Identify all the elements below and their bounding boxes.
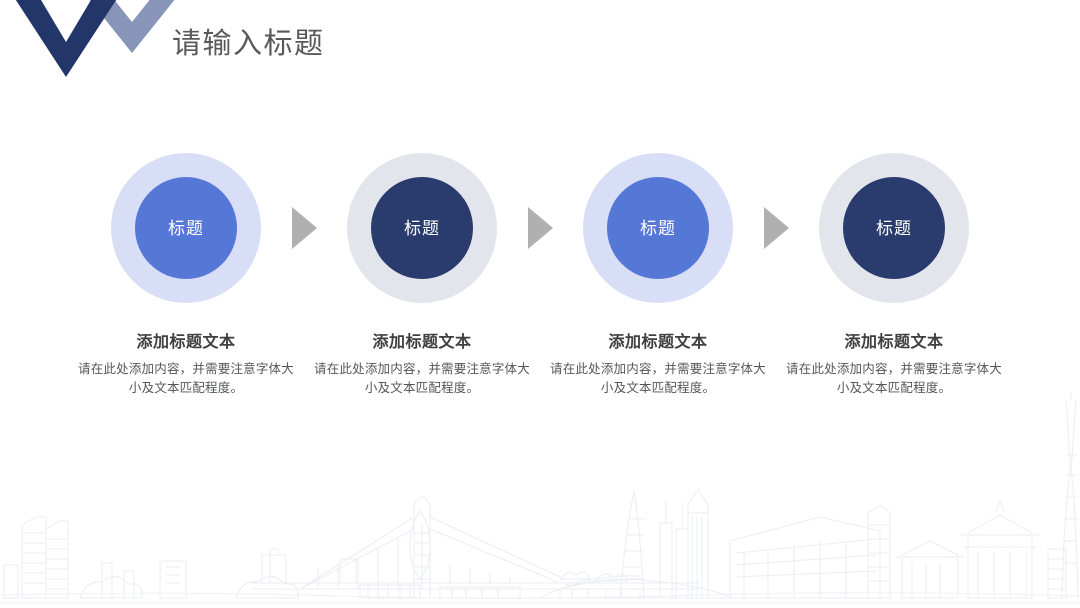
process-step-1-badge: 标题 (168, 220, 204, 237)
process-step-3-badge: 标题 (640, 220, 676, 237)
process-caption-4-body: 请在此处添加内容，并需要注意字体大小及文本匹配程度。 (776, 360, 1012, 398)
process-step-2-disc: 标题 (371, 177, 473, 279)
city-skyline-watermark (0, 393, 1080, 608)
process-caption-2-body: 请在此处添加内容，并需要注意字体大小及文本匹配程度。 (304, 360, 540, 398)
process-caption-1: 添加标题文本 请在此处添加内容，并需要注意字体大小及文本匹配程度。 (68, 332, 304, 398)
double-chevron-logo (0, 0, 180, 90)
triangle-right-icon (764, 207, 789, 249)
process-arrow-3 (733, 153, 819, 303)
process-caption-1-title: 添加标题文本 (68, 332, 304, 354)
process-step-1-disc: 标题 (135, 177, 237, 279)
page-title: 请输入标题 (172, 23, 325, 65)
slide-header: 请输入标题 (0, 0, 1080, 95)
triangle-right-icon (292, 207, 317, 249)
process-captions-row: 添加标题文本 请在此处添加内容，并需要注意字体大小及文本匹配程度。 添加标题文本… (0, 332, 1080, 398)
process-step-4-disc: 标题 (843, 177, 945, 279)
process-steps-row: 标题 标题 标题 标题 (0, 152, 1080, 304)
process-caption-4-title: 添加标题文本 (776, 332, 1012, 354)
triangle-right-icon (528, 207, 553, 249)
process-step-4[interactable]: 标题 (819, 153, 969, 303)
process-caption-3-title: 添加标题文本 (540, 332, 776, 354)
process-step-1[interactable]: 标题 (111, 153, 261, 303)
process-step-3[interactable]: 标题 (583, 153, 733, 303)
process-step-4-badge: 标题 (876, 220, 912, 237)
process-caption-3: 添加标题文本 请在此处添加内容，并需要注意字体大小及文本匹配程度。 (540, 332, 776, 398)
process-caption-2-title: 添加标题文本 (304, 332, 540, 354)
process-arrow-1 (261, 153, 347, 303)
process-step-2-badge: 标题 (404, 220, 440, 237)
process-caption-4: 添加标题文本 请在此处添加内容，并需要注意字体大小及文本匹配程度。 (776, 332, 1012, 398)
slide-canvas: 请输入标题 标题 标题 标题 标 (0, 0, 1080, 608)
process-caption-2: 添加标题文本 请在此处添加内容，并需要注意字体大小及文本匹配程度。 (304, 332, 540, 398)
process-step-2[interactable]: 标题 (347, 153, 497, 303)
process-arrow-2 (497, 153, 583, 303)
process-step-3-disc: 标题 (607, 177, 709, 279)
process-caption-1-body: 请在此处添加内容，并需要注意字体大小及文本匹配程度。 (68, 360, 304, 398)
process-caption-3-body: 请在此处添加内容，并需要注意字体大小及文本匹配程度。 (540, 360, 776, 398)
